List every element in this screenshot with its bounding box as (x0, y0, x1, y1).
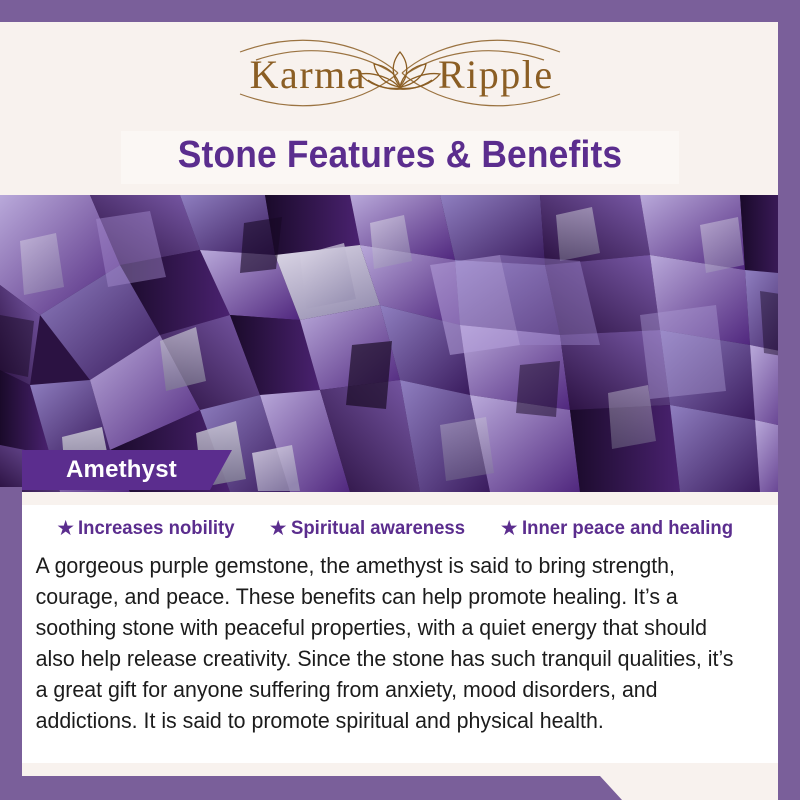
amethyst-crystal-illustration (0, 195, 800, 492)
star-icon: ★ (269, 518, 288, 539)
brand-logo: Karma Ripple (170, 30, 630, 116)
benefit-label: Increases nobility (78, 517, 234, 540)
star-icon: ★ (56, 518, 75, 539)
description-text: A gorgeous purple gemstone, the amethyst… (22, 546, 755, 736)
benefit-item: ★ Increases nobility (56, 517, 243, 540)
stone-name-label: Amethyst (22, 456, 221, 484)
stone-name-banner: Amethyst (22, 450, 232, 490)
brand-name-right: Ripple (438, 52, 554, 97)
benefit-item: ★ Spiritual awareness (269, 517, 474, 540)
karma-ripple-logo: Karma Ripple (170, 30, 630, 116)
lotus-icon (360, 52, 440, 89)
product-infographic: Amethyst (0, 0, 800, 800)
frame-right (778, 0, 800, 800)
frame-left (0, 487, 22, 800)
benefit-item: ★ Inner peace and healing (500, 517, 744, 540)
benefits-list: ★ Increases nobility ★ Spiritual awarene… (22, 505, 778, 546)
brand-name-left: Karma (250, 52, 366, 97)
title-band: Stone Features & Benefits (0, 120, 800, 195)
benefit-label: Inner peace and healing (522, 517, 733, 540)
brand-header: Karma Ripple (0, 22, 800, 120)
title-plate: Stone Features & Benefits (121, 131, 679, 185)
star-icon: ★ (500, 518, 519, 539)
frame-top (0, 0, 800, 22)
page-title: Stone Features & Benefits (178, 135, 623, 177)
benefit-label: Spiritual awareness (291, 517, 465, 540)
description-card: ★ Increases nobility ★ Spiritual awarene… (22, 505, 778, 763)
amethyst-photo (0, 195, 800, 492)
